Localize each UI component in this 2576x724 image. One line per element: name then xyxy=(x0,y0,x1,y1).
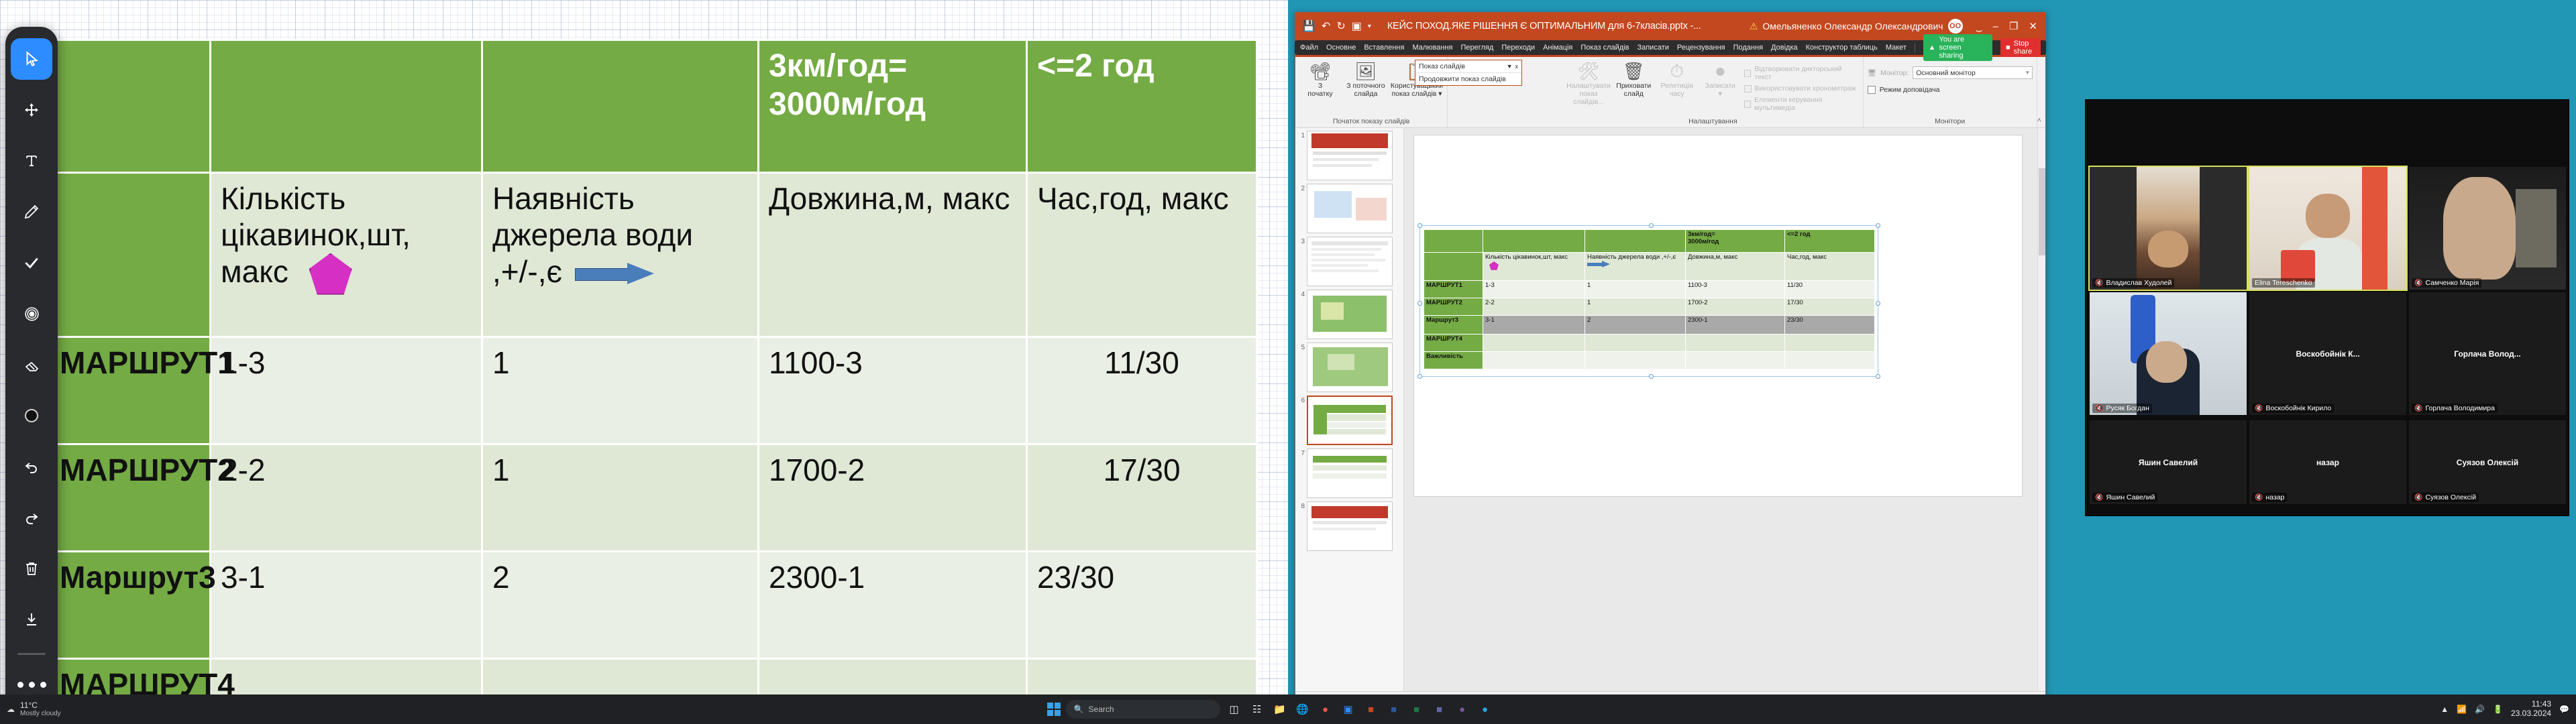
trash-icon xyxy=(23,560,40,577)
system-tray[interactable]: ▲ 📶 🔊 🔋 11:43 23.03.2024 💬 xyxy=(2440,700,2569,719)
search-placeholder: Search xyxy=(1089,705,1114,714)
row-3-cell-1: 3-1 xyxy=(211,552,482,659)
participant-center-name: Воскобойнік К... xyxy=(2249,349,2406,359)
video-feed xyxy=(2409,167,2566,290)
ribbon-group-start-show: 📽 З початку 🖼 З поточного слайда 📋 Корис… xyxy=(1295,57,1448,127)
presenter-view-label: Режим доповідача xyxy=(1880,86,1940,94)
stop-share-label: Stop share xyxy=(2014,40,2035,56)
table-row: МАРШРУТ2 2-2 1 1700-2 17/30 xyxy=(50,444,1257,552)
thumbnail-row[interactable]: 5 xyxy=(1297,343,1403,392)
subheader-corner-cell xyxy=(50,173,211,337)
slide-thumbnail[interactable] xyxy=(1307,343,1393,392)
participant-tile[interactable]: назар 🔇 назар xyxy=(2249,420,2406,504)
table-header-top-row: 3км/год= 3000м/год <=2 год xyxy=(50,40,1257,173)
resize-handle-n[interactable] xyxy=(1649,223,1654,228)
media-controls-label: Елементи керування мультимедіа xyxy=(1754,96,1859,112)
group-label-start-show: Початок показу слайдів xyxy=(1299,116,1443,127)
participant-name-chip: 🔇 Самченко Марія xyxy=(2412,278,2481,288)
avatar[interactable]: ОО xyxy=(1948,19,1963,34)
zoom-tab-animations[interactable]: Анімація xyxy=(1543,44,1572,52)
check-icon xyxy=(23,254,40,271)
document-filename: КЕЙС ПОХОД.ЯКЕ РІШЕННЯ Є ОПТИМАЛЬНИМ для… xyxy=(1387,21,1701,32)
participant-name: Горлача Володимира xyxy=(2425,404,2495,412)
account-area[interactable]: ⚠ Омельяненко Олександр Олександрович ОО xyxy=(1750,19,1963,34)
warning-icon: ⚠ xyxy=(1750,21,1758,32)
right-arrow-shape-icon xyxy=(575,263,654,284)
participant-name: Владислав Худолей xyxy=(2106,279,2171,287)
row-1-cell-3: 1100-3 xyxy=(759,337,1027,444)
slide-thumbnail[interactable] xyxy=(1307,290,1393,339)
weather-icon: ☁ xyxy=(7,705,15,714)
powerpoint-app-icon[interactable]: ■ xyxy=(1362,701,1380,718)
participant-name-chip: 🔇 Русяк Богдан xyxy=(2092,404,2152,413)
participant-tile[interactable]: Суязов Олексій 🔇 Суязов Олексій xyxy=(2409,420,2566,504)
presenter-view-checkbox[interactable]: Режим доповідача xyxy=(1868,79,2033,94)
slide-canvas-area[interactable]: 3км/год= 3000м/год <=2 год Кількість цік… xyxy=(1404,128,2045,691)
move-icon xyxy=(23,102,40,118)
group-label-setup: Налаштування xyxy=(1567,116,1859,127)
ribbon-display-icon[interactable]: ⏟ xyxy=(1976,21,1982,32)
mic-off-icon: 🔇 xyxy=(2255,494,2263,501)
participant-name-chip: 🔇 назар xyxy=(2252,493,2287,502)
resume-slideshow-label: Продовжити показ слайдів xyxy=(1419,75,1518,83)
checkbox-icon[interactable] xyxy=(1744,101,1751,108)
zoom-app-icon[interactable]: ▣ xyxy=(1340,701,1357,718)
header-top-blank-1 xyxy=(211,40,482,173)
subheader-hours-cell: Час,год, макс xyxy=(1027,173,1257,337)
float-menu-title-row[interactable]: Показ слайдів ▼ x xyxy=(1415,60,1521,72)
narration-checkbox[interactable]: Відтворювати дикторський текст xyxy=(1744,65,1859,81)
participant-tile[interactable]: Воскобойнік К... 🔇 Воскобойнік Кирило xyxy=(2249,292,2406,415)
network-icon[interactable]: 📶 xyxy=(2457,705,2467,714)
slide-number: 5 xyxy=(1297,343,1305,351)
mic-off-icon: 🔇 xyxy=(2095,405,2103,412)
draw-tool-button[interactable] xyxy=(11,191,52,233)
setup-show-icon: 🛠 xyxy=(1577,62,1599,80)
participant-center-name: Суязов Олексій xyxy=(2409,458,2566,467)
record-slideshow-button[interactable]: ⏺ Записати ▾ xyxy=(1701,60,1740,98)
mic-off-icon: 🔇 xyxy=(2255,405,2263,412)
slide-thumbnail-panel[interactable]: 1 2 3 xyxy=(1295,128,1404,691)
participant-name-chip: 🔇 Яшин Савелий xyxy=(2092,493,2157,502)
download-icon xyxy=(23,611,40,627)
zoom-tab-file[interactable]: Файл xyxy=(1300,44,1318,52)
hide-slide-label: Приховати слайд xyxy=(1616,82,1651,98)
row-3-cell-2: 2 xyxy=(482,552,759,659)
word-app-icon[interactable]: ■ xyxy=(1385,701,1403,718)
windows-start-icon[interactable] xyxy=(1047,703,1061,716)
weather-temperature: 11°C xyxy=(20,701,61,710)
from-beginning-label: З початку xyxy=(1307,82,1332,98)
hide-slide-icon: 🗑 xyxy=(1623,62,1645,80)
battery-icon[interactable]: 🔋 xyxy=(2493,705,2503,714)
header-time-cell: <=2 год xyxy=(1027,40,1257,173)
color-circle-icon xyxy=(23,408,40,424)
stop-icon: ■ xyxy=(2006,44,2010,52)
header-speed-line1: 3км/год= 3000м/год xyxy=(769,48,1016,123)
tray-expand-icon[interactable]: ▲ xyxy=(2440,705,2449,714)
undo-icon xyxy=(23,459,40,475)
collapse-ribbon-icon[interactable]: ˄ xyxy=(2037,117,2045,127)
setup-checkbox-list[interactable]: Відтворювати дикторський текст Використо… xyxy=(1744,60,1859,112)
participant-name: Яшин Савелий xyxy=(2106,493,2155,501)
telegram-app-icon[interactable]: ● xyxy=(1477,701,1494,718)
zoom-tab-home[interactable]: Основне xyxy=(1326,44,1356,52)
resume-slideshow-item[interactable]: Продовжити показ слайдів xyxy=(1415,73,1521,85)
zoom-tab-table-design[interactable]: Конструктор таблиць xyxy=(1806,44,1878,52)
rehearse-label: Репетиція часу xyxy=(1661,82,1693,98)
chevron-down-icon[interactable]: ▼ xyxy=(1507,63,1513,70)
row-label-2: МАРШРУТ2 xyxy=(50,444,211,552)
window-controls[interactable]: ⏟ – ❐ ✕ xyxy=(1976,20,2041,32)
start-slideshow-icon[interactable]: ▣ xyxy=(1352,19,1362,33)
participant-tile[interactable]: 🔇 Русяк Богдан xyxy=(2090,292,2247,415)
participant-name: Русяк Богдан xyxy=(2106,404,2149,412)
participant-name: назар xyxy=(2265,493,2284,501)
slide-number: 8 xyxy=(1297,501,1305,510)
color-tool-button[interactable] xyxy=(11,395,52,436)
hide-slide-button[interactable]: 🗑 Приховати слайд xyxy=(1614,60,1654,98)
participant-tile[interactable]: Яшин Савелий 🔇 Яшин Савелий xyxy=(2090,420,2247,504)
subheader-length-text: Довжина,м, макс xyxy=(769,181,1010,216)
row-3-cell-3: 2300-1 xyxy=(759,552,1027,659)
mic-off-icon: 🔇 xyxy=(2414,280,2422,287)
current-slide[interactable]: 3км/год= 3000м/год <=2 год Кількість цік… xyxy=(1413,135,2023,497)
spotlight-icon xyxy=(23,306,40,322)
record-icon: ⏺ xyxy=(1716,62,1725,80)
participant-tile[interactable]: 🔇 Самченко Марія xyxy=(2409,167,2566,290)
chrome-browser-icon[interactable]: ● xyxy=(1317,701,1334,718)
scrollbar-thumb[interactable] xyxy=(2039,168,2045,255)
quick-access-toolbar[interactable]: 💾 ↶ ↻ ▣ ▾ xyxy=(1299,19,1371,33)
media-controls-checkbox[interactable]: Елементи керування мультимедіа xyxy=(1744,96,1859,112)
row-3-cell-4: 23/30 xyxy=(1027,552,1257,659)
slide-thumbnail[interactable] xyxy=(1307,448,1393,498)
subheader-length-cell: Довжина,м, макс xyxy=(759,173,1027,337)
move-tool-button[interactable] xyxy=(11,89,52,131)
participants-grid-row3[interactable]: Яшин Савелий 🔇 Яшин Савелий назар 🔇 наза… xyxy=(2090,420,2566,504)
slide-number: 2 xyxy=(1297,184,1305,192)
close-button[interactable]: ✕ xyxy=(2029,20,2037,32)
eraser-tool-button[interactable] xyxy=(11,344,52,385)
monitor-row[interactable]: 🖥 Монітор: Основний монітор ▾ xyxy=(1868,60,2033,79)
timings-label: Використовувати хронометраж xyxy=(1755,84,1856,93)
slide-thumbnail[interactable] xyxy=(1307,237,1393,286)
screen-play-icon: 📽 xyxy=(1309,62,1331,80)
ribbon-group-monitors: 🖥 Монітор: Основний монітор ▾ Режим допо… xyxy=(1864,57,2037,127)
subheader-count-cell: Кількість цікавинок,шт, макс xyxy=(211,173,482,337)
setup-slideshow-label: Налаштувати показ слайдів... xyxy=(1566,82,1611,106)
zoom-tab-view[interactable]: Перегляд xyxy=(1460,44,1493,52)
row-2-cell-4: 17/30 xyxy=(1027,444,1257,552)
row-2-cell-1: 2-2 xyxy=(211,444,482,552)
float-menu-title: Показ слайдів xyxy=(1419,62,1504,70)
subheader-water-cell: Наявність джерела води ,+/-,є xyxy=(482,173,759,337)
select-tool-button[interactable] xyxy=(11,38,52,80)
slide-number: 1 xyxy=(1297,131,1305,139)
row-1-cell-1: 1-3 xyxy=(211,337,482,444)
zoom-tab-layout[interactable]: Макет xyxy=(1886,44,1907,52)
slideshow-float-menu[interactable]: Показ слайдів ▼ x Продовжити показ слайд… xyxy=(1415,60,1522,86)
stamp-tool-button[interactable] xyxy=(11,242,52,284)
table-row: Маршрут3 3-1 2 2300-1 23/30 xyxy=(50,552,1257,659)
slide-number: 6 xyxy=(1297,396,1305,404)
minimize-button[interactable]: – xyxy=(1993,21,1998,32)
cursor-icon xyxy=(23,50,40,68)
powerpoint-body: 1 2 3 xyxy=(1295,128,2045,691)
participants-grid[interactable]: 🔇 Владислав Худолей Elina Tereschenko xyxy=(2090,167,2566,415)
notifications-icon[interactable]: 💬 xyxy=(2559,705,2569,714)
slide-thumbnail-selected[interactable] xyxy=(1307,396,1393,445)
resize-handle-sw[interactable] xyxy=(1417,374,1422,379)
powerpoint-window: 💾 ↶ ↻ ▣ ▾ КЕЙС ПОХОД.ЯКЕ РІШЕННЯ Є ОПТИМ… xyxy=(1295,12,2046,707)
windows-taskbar[interactable]: ☁ 11°C Mostly cloudy 🔍 Search ◫ ☷ 📁 🌐 ● … xyxy=(0,695,2576,724)
video-feed xyxy=(2090,167,2247,290)
mic-off-icon: 🔇 xyxy=(2095,494,2103,501)
participant-name-chip: 🔇 Воскобойнік Кирило xyxy=(2252,404,2334,413)
record-label: Записати ▾ xyxy=(1705,82,1735,98)
mic-off-icon: 🔇 xyxy=(2414,405,2422,412)
mic-off-icon: 🔇 xyxy=(2414,494,2422,501)
participant-tile[interactable]: Elina Tereschenko xyxy=(2249,167,2406,290)
zoom-meeting-toolbar[interactable]: Файл Основне Вставлення Малювання Перегл… xyxy=(1295,40,2046,55)
thumbnail-row[interactable]: 8 xyxy=(1297,501,1403,551)
stop-share-button[interactable]: ■ Stop share xyxy=(2000,38,2041,57)
participant-name: Самченко Марія xyxy=(2425,279,2479,287)
screen-current-icon: 🖼 xyxy=(1354,62,1377,80)
pentagon-shape-icon xyxy=(309,253,352,295)
rehearse-icon: ⏱ xyxy=(1670,62,1684,80)
spotlight-tool-button[interactable] xyxy=(11,293,52,335)
checkbox-icon[interactable] xyxy=(1744,70,1752,77)
table-row: МАРШРУТ1 1-3 1 1100-3 11/30 xyxy=(50,337,1257,444)
header-top-blank-2 xyxy=(482,40,759,173)
narration-label: Відтворювати дикторський текст xyxy=(1754,65,1858,81)
header-speed-cell: 3км/год= 3000м/год xyxy=(759,40,1027,173)
participant-name: Суязов Олексій xyxy=(2425,493,2476,501)
row-2-cell-3: 1700-2 xyxy=(759,444,1027,552)
zoom-tab-help[interactable]: Довідка xyxy=(1771,44,1798,52)
zoom-tab-review[interactable]: Рецензування xyxy=(1677,44,1725,52)
zoom-tab-slideshow[interactable]: Показ слайдів xyxy=(1580,44,1629,52)
account-name: Омельяненко Олександр Олександрович xyxy=(1762,21,1943,32)
taskbar-search-box[interactable]: 🔍 Search xyxy=(1066,700,1220,719)
row-1-cell-2: 1 xyxy=(482,337,759,444)
save-tool-button[interactable] xyxy=(11,599,52,640)
zoom-tab-draw[interactable]: Малювання xyxy=(1412,44,1452,52)
redo-icon[interactable]: ↻ xyxy=(1336,19,1345,33)
thumbnail-row[interactable]: 2 xyxy=(1297,184,1403,233)
task-view-icon[interactable]: ◫ xyxy=(1226,701,1243,718)
video-feed xyxy=(2249,167,2406,290)
row-label-3: Маршрут3 xyxy=(50,552,211,659)
resize-handle-w[interactable] xyxy=(1417,301,1422,306)
shared-slide-stage: 3км/год= 3000м/год <=2 год Кількість цік… xyxy=(0,0,1288,724)
zoom-tab-transitions[interactable]: Переходи xyxy=(1501,44,1535,52)
widgets-icon[interactable]: ☷ xyxy=(1248,701,1266,718)
row-2-cell-2: 1 xyxy=(482,444,759,552)
search-icon: 🔍 xyxy=(1074,705,1084,714)
slide-number: 4 xyxy=(1297,290,1305,298)
participant-center-name: Яшин Савелий xyxy=(2090,458,2247,467)
clear-tool-button[interactable] xyxy=(11,548,52,589)
participant-center-name: назар xyxy=(2249,458,2406,467)
pencil-icon xyxy=(23,204,40,220)
thumbnail-row[interactable]: 3 xyxy=(1297,237,1403,286)
row-1-cell-4: 11/30 xyxy=(1027,337,1257,444)
slide-thumbnail[interactable] xyxy=(1307,184,1393,233)
volume-icon[interactable]: 🔊 xyxy=(2475,705,2485,714)
taskbar-center-cluster[interactable]: 🔍 Search ◫ ☷ 📁 🌐 ● ▣ ■ ■ ■ ■ ● ● xyxy=(1047,700,1494,719)
clock-time: 11:43 xyxy=(2511,700,2551,709)
chevron-down-icon[interactable]: ▾ xyxy=(2026,69,2029,76)
toolbar-divider xyxy=(17,653,46,655)
slide-number: 3 xyxy=(1297,237,1305,245)
row-label-1: МАРШРУТ1 xyxy=(50,337,211,444)
zoom-tab-record[interactable]: Записати xyxy=(1637,44,1668,52)
share-icon: ▲ xyxy=(1929,44,1936,52)
toolbar-divider xyxy=(1915,43,1915,52)
more-dots-icon xyxy=(17,682,46,688)
annotation-toolbar[interactable] xyxy=(5,27,58,724)
slide-number: 7 xyxy=(1297,448,1305,457)
thumbnail-row[interactable]: 4 xyxy=(1297,290,1403,339)
undo-icon[interactable]: ↶ xyxy=(1322,19,1330,33)
participant-name: Воскобойнік Кирило xyxy=(2265,404,2331,412)
redo-tool-button[interactable] xyxy=(11,497,52,538)
save-icon[interactable]: 💾 xyxy=(1302,19,1316,33)
maximize-button[interactable]: ❐ xyxy=(2009,20,2018,32)
video-feed xyxy=(2090,292,2247,415)
redo-icon xyxy=(23,509,40,526)
from-beginning-button[interactable]: 📽 З початку xyxy=(1299,60,1341,98)
file-explorer-icon[interactable]: 📁 xyxy=(1271,701,1289,718)
undo-tool-button[interactable] xyxy=(11,446,52,487)
resize-handle-ne[interactable] xyxy=(1876,223,1880,228)
screen-sharing-label: You are screen sharing xyxy=(1939,36,1987,60)
ribbon: 📽 З початку 🖼 З поточного слайда 📋 Корис… xyxy=(1295,57,2045,128)
participant-name-chip: Elina Tereschenko xyxy=(2252,278,2315,288)
eraser-icon xyxy=(23,357,40,373)
taskbar-clock[interactable]: 11:43 23.03.2024 xyxy=(2511,700,2551,719)
monitor-icon: 🖥 xyxy=(1868,68,1876,77)
zoom-tab-insert[interactable]: Вставлення xyxy=(1364,44,1404,52)
checkbox-icon[interactable] xyxy=(1868,86,1876,94)
edge-browser-icon[interactable]: 🌐 xyxy=(1294,701,1311,718)
shared-slide-table: 3км/год= 3000м/год <=2 год Кількість цік… xyxy=(48,39,1258,724)
clock-date: 23.03.2024 xyxy=(2511,709,2551,719)
participant-tile[interactable]: Горлача Волод... 🔇 Горлача Володимира xyxy=(2409,292,2566,415)
resize-handle-s[interactable] xyxy=(1649,374,1654,379)
slide-thumbnail[interactable] xyxy=(1307,131,1393,180)
monitor-label: Монітор: xyxy=(1880,69,1909,77)
customize-qat-icon[interactable]: ▾ xyxy=(1368,23,1371,30)
slide-thumbnail[interactable] xyxy=(1307,501,1393,551)
monitor-select[interactable]: Основний монітор ▾ xyxy=(1913,66,2032,79)
participant-center-name: Горлача Волод... xyxy=(2409,349,2566,359)
subheader-hours-text: Час,год, макс xyxy=(1037,181,1229,216)
participant-tile[interactable]: 🔇 Владислав Худолей xyxy=(2090,167,2247,290)
canvas-vertical-scrollbar[interactable] xyxy=(2037,128,2045,691)
table-header-sub-row: Кількість цікавинок,шт, макс Наявність д… xyxy=(50,173,1257,337)
participant-name-chip: 🔇 Горлача Володимира xyxy=(2412,404,2498,413)
rehearse-timings-button[interactable]: ⏱ Репетиція часу xyxy=(1658,60,1697,98)
setup-slideshow-button[interactable]: 🛠 Налаштувати показ слайдів... xyxy=(1567,60,1610,106)
weather-description: Mostly cloudy xyxy=(20,710,61,717)
selection-frame[interactable] xyxy=(1419,225,1878,377)
participant-name-chip: 🔇 Суязов Олексій xyxy=(2412,493,2479,502)
resize-handle-se[interactable] xyxy=(1876,374,1880,379)
screen-sharing-badge: ▲ You are screen sharing xyxy=(1923,34,1992,61)
resize-handle-e[interactable] xyxy=(1876,301,1880,306)
text-tool-button[interactable] xyxy=(11,140,52,182)
header-corner-cell xyxy=(50,40,211,173)
thumbnail-row[interactable]: 6 xyxy=(1297,396,1403,445)
float-menu-close-icon[interactable]: x xyxy=(1515,63,1519,70)
zoom-tab-present[interactable]: Подання xyxy=(1733,44,1763,52)
viber-app-icon[interactable]: ● xyxy=(1454,701,1471,718)
from-current-slide-button[interactable]: 🖼 З поточного слайда xyxy=(1345,60,1387,98)
thumbnail-row[interactable]: 1 xyxy=(1297,131,1403,180)
participant-name-chip: 🔇 Владислав Худолей xyxy=(2092,278,2174,288)
group-label-monitors: Монітори xyxy=(1868,116,2033,127)
monitor-value: Основний монітор xyxy=(1916,69,1976,77)
weather-widget[interactable]: ☁ 11°C Mostly cloudy xyxy=(7,701,61,718)
thumbnail-row[interactable]: 7 xyxy=(1297,448,1403,498)
participant-name: Elina Tereschenko xyxy=(2255,279,2312,287)
header-time-text: <=2 год xyxy=(1037,48,1246,86)
excel-app-icon[interactable]: ■ xyxy=(1408,701,1426,718)
checkbox-icon[interactable] xyxy=(1744,85,1752,93)
mic-off-icon: 🔇 xyxy=(2095,280,2103,287)
text-icon xyxy=(23,153,40,169)
resize-handle-nw[interactable] xyxy=(1417,223,1422,228)
teams-app-icon[interactable]: ■ xyxy=(1431,701,1448,718)
video-participants-panel[interactable]: 🔇 Владислав Худолей Elina Tereschenko xyxy=(2085,99,2569,516)
from-current-label: З поточного слайда xyxy=(1346,82,1385,98)
timings-checkbox[interactable]: Використовувати хронометраж xyxy=(1744,84,1859,93)
